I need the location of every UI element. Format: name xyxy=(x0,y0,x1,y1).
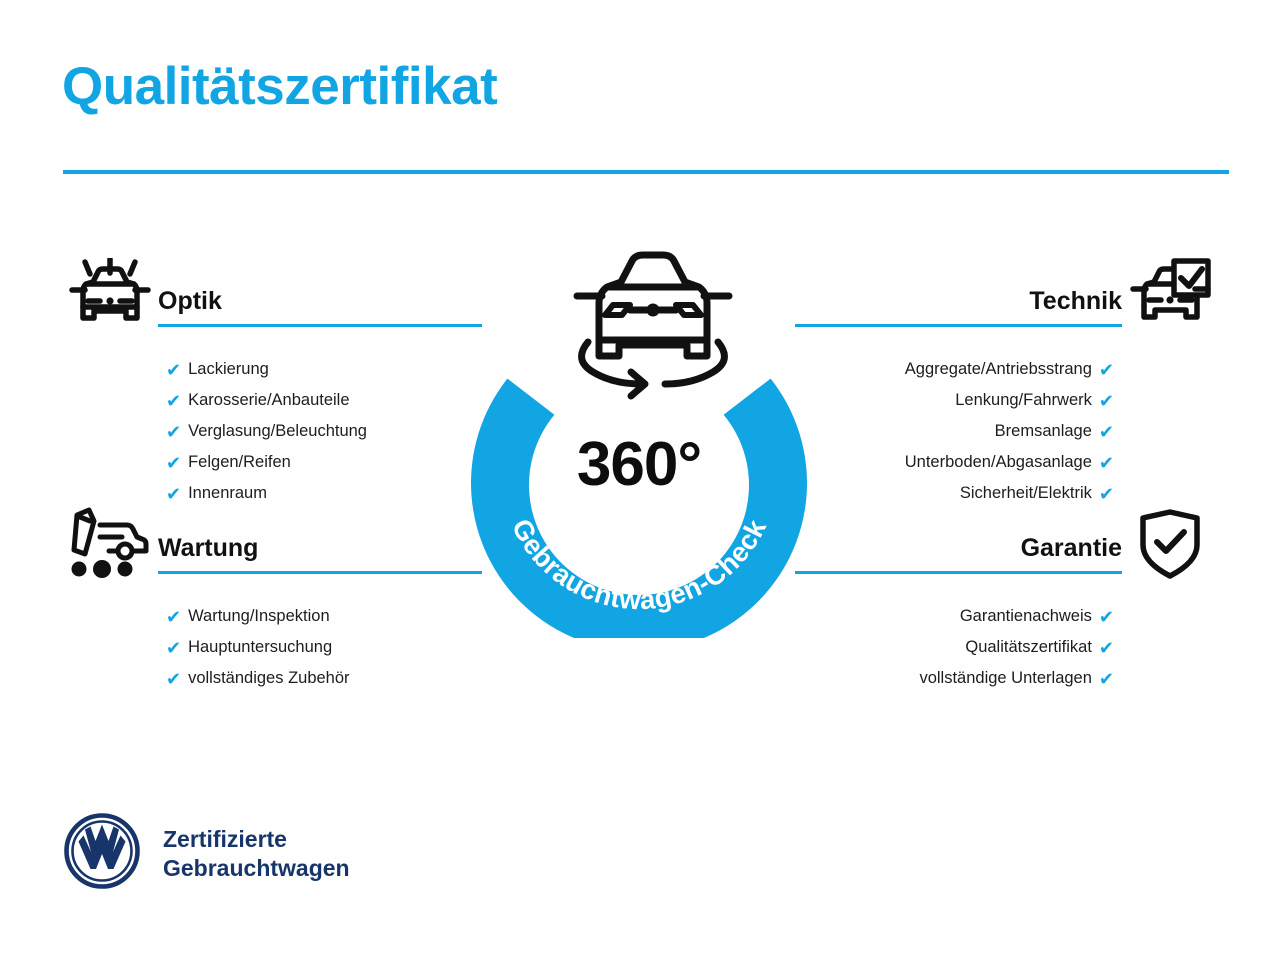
car-checkbox-icon xyxy=(1122,258,1218,340)
check-icon: ✔ xyxy=(1099,485,1114,503)
list-item-label: vollständige Unterlagen xyxy=(919,670,1091,687)
check-icon: ✔ xyxy=(1099,423,1114,441)
list-item-label: Innenraum xyxy=(188,485,267,502)
check-icon: ✔ xyxy=(1099,608,1114,626)
check-icon: ✔ xyxy=(1099,392,1114,410)
list-item: Lenkung/Fahrwerk ✔ xyxy=(795,385,1114,416)
list-item: Unterboden/Abgasanlage ✔ xyxy=(795,447,1114,478)
list-item-label: Sicherheit/Elektrik xyxy=(960,485,1092,502)
list-item-label: Lenkung/Fahrwerk xyxy=(955,392,1092,409)
shield-check-icon xyxy=(1122,505,1218,587)
footer-brand-lockup: Zertifizierte Gebrauchtwagen xyxy=(63,812,350,895)
car-front-shine-icon xyxy=(62,258,158,340)
list-item-label: Hauptuntersuchung xyxy=(188,639,332,656)
list-item-label: Felgen/Reifen xyxy=(188,454,291,471)
volkswagen-logo xyxy=(63,812,141,895)
list-item: ✔ Verglasung/Beleuchtung xyxy=(166,416,482,447)
checklist-technik: Aggregate/Antriebsstrang ✔ Lenkung/Fahrw… xyxy=(795,340,1218,509)
badge-360-gebrauchtwagen-check: Gebrauchtwagen-Check 360° xyxy=(455,248,823,638)
list-item: Qualitätszertifikat ✔ xyxy=(795,632,1114,663)
list-item-label: Verglasung/Beleuchtung xyxy=(188,423,367,440)
list-item-label: vollständiges Zubehör xyxy=(188,670,349,687)
check-icon: ✔ xyxy=(1099,454,1114,472)
list-item: ✔ Felgen/Reifen xyxy=(166,447,482,478)
check-icon: ✔ xyxy=(1099,670,1114,688)
checklist-wartung: ✔ Wartung/Inspektion ✔ Hauptuntersuchung… xyxy=(62,587,482,694)
section-title-garantie: Garantie xyxy=(795,535,1122,563)
check-icon: ✔ xyxy=(166,361,181,379)
section-technik: Technik Aggregate/Ant xyxy=(795,258,1218,509)
list-item: ✔ Wartung/Inspektion xyxy=(166,601,482,632)
list-item-label: Aggregate/Antriebsstrang xyxy=(905,361,1092,378)
check-icon: ✔ xyxy=(166,423,181,441)
page-title: Qualitätszertifikat xyxy=(62,58,497,116)
section-wartung: Wartung ✔ Wartung/Inspektion ✔ Hauptunte… xyxy=(62,505,482,694)
section-title-technik: Technik xyxy=(795,288,1122,316)
footer-line-2: Gebrauchtwagen xyxy=(163,854,350,883)
check-icon: ✔ xyxy=(166,670,181,688)
list-item: ✔ Lackierung xyxy=(166,354,482,385)
check-icon: ✔ xyxy=(166,608,181,626)
section-optik: Optik ✔ Lackierung ✔ Karosserie/Anbautei… xyxy=(62,258,482,509)
list-item: Bremsanlage ✔ xyxy=(795,416,1114,447)
list-item: vollständige Unterlagen ✔ xyxy=(795,663,1114,694)
list-item: ✔ Hauptuntersuchung xyxy=(166,632,482,663)
car-service-pencil-icon xyxy=(62,505,158,587)
check-icon: ✔ xyxy=(166,639,181,657)
list-item-label: Garantienachweis xyxy=(960,608,1092,625)
checklist-optik: ✔ Lackierung ✔ Karosserie/Anbauteile ✔ V… xyxy=(62,340,482,509)
list-item: Garantienachweis ✔ xyxy=(795,601,1114,632)
footer-brand-text: Zertifizierte Gebrauchtwagen xyxy=(163,825,350,883)
header-divider xyxy=(63,170,1229,174)
list-item-label: Karosserie/Anbauteile xyxy=(188,392,349,409)
section-divider-garantie xyxy=(795,571,1122,574)
list-item-label: Unterboden/Abgasanlage xyxy=(905,454,1092,471)
list-item: ✔ Karosserie/Anbauteile xyxy=(166,385,482,416)
check-icon: ✔ xyxy=(166,454,181,472)
check-icon: ✔ xyxy=(1099,361,1114,379)
checklist-garantie: Garantienachweis ✔ Qualitätszertifikat ✔… xyxy=(795,587,1218,694)
check-icon: ✔ xyxy=(166,485,181,503)
list-item: Aggregate/Antriebsstrang ✔ xyxy=(795,354,1114,385)
section-divider-optik xyxy=(158,324,482,327)
check-icon: ✔ xyxy=(166,392,181,410)
section-divider-technik xyxy=(795,324,1122,327)
section-title-optik: Optik xyxy=(158,288,482,316)
list-item-label: Bremsanlage xyxy=(995,423,1092,440)
footer-line-1: Zertifizierte xyxy=(163,825,350,854)
section-title-wartung: Wartung xyxy=(158,535,482,563)
section-divider-wartung xyxy=(158,571,482,574)
section-garantie: Garantie Garantienachweis ✔ Qualitätszer… xyxy=(795,505,1218,694)
list-item-label: Qualitätszertifikat xyxy=(965,639,1092,656)
car-rotate-icon xyxy=(577,255,729,396)
list-item: ✔ vollständiges Zubehör xyxy=(166,663,482,694)
list-item-label: Lackierung xyxy=(188,361,269,378)
badge-center-value: 360° xyxy=(455,434,823,496)
list-item-label: Wartung/Inspektion xyxy=(188,608,330,625)
check-icon: ✔ xyxy=(1099,639,1114,657)
